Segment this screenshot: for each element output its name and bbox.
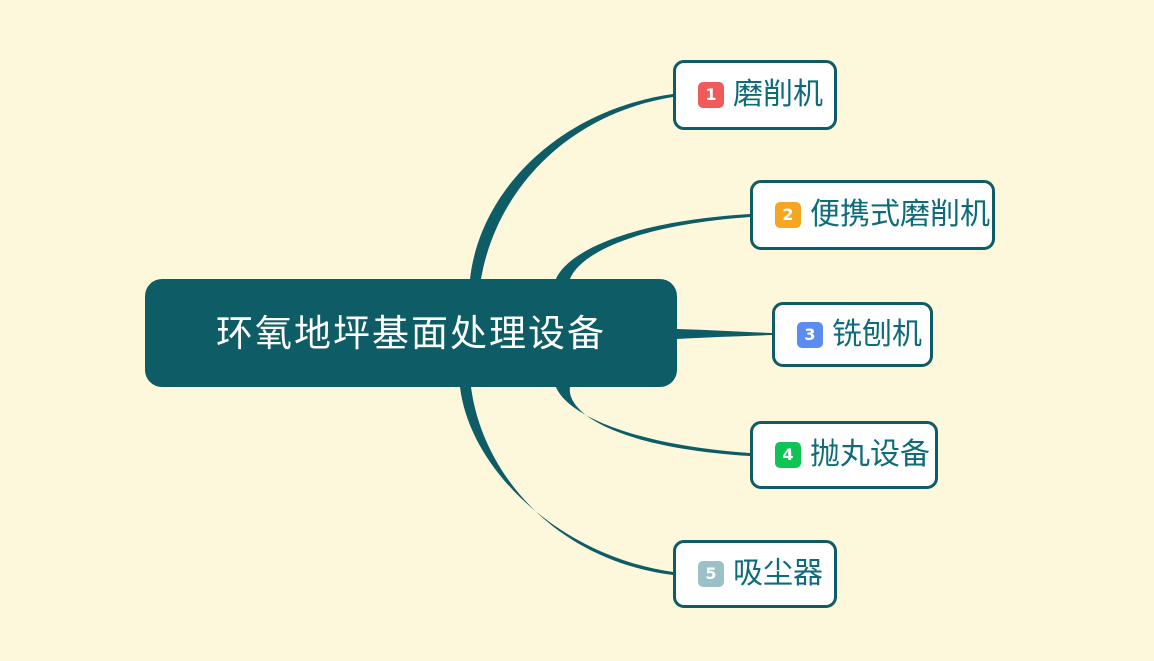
- connector-branch-3: [677, 329, 772, 339]
- branch-node-2[interactable]: 2 便携式磨削机: [750, 180, 995, 250]
- branch-node-5[interactable]: 5 吸尘器: [673, 540, 837, 608]
- connector-branch-2: [556, 214, 750, 279]
- root-node-label: 环氧地坪基面处理设备: [216, 315, 606, 352]
- mindmap-canvas: 环氧地坪基面处理设备 1 磨削机 2 便携式磨削机 3 铣刨机 4 抛丸设备 5…: [0, 0, 1154, 661]
- branch-label-3: 铣刨机: [832, 320, 922, 350]
- branch-badge-1: 1: [698, 82, 724, 108]
- connector-branch-4: [556, 387, 750, 456]
- branch-label-4: 抛丸设备: [810, 440, 930, 470]
- branch-label-2: 便携式磨削机: [810, 200, 990, 230]
- branch-badge-5: 5: [698, 561, 724, 587]
- branch-node-4[interactable]: 4 抛丸设备: [750, 421, 938, 489]
- root-node[interactable]: 环氧地坪基面处理设备: [145, 279, 677, 387]
- branch-badge-3: 3: [797, 322, 823, 348]
- branch-node-3[interactable]: 3 铣刨机: [772, 302, 933, 367]
- connector-branch-5: [460, 387, 673, 575]
- branch-label-1: 磨削机: [733, 80, 823, 110]
- branch-badge-4: 4: [775, 442, 801, 468]
- connector-branch-1: [470, 94, 673, 279]
- branch-label-5: 吸尘器: [733, 559, 823, 589]
- branch-node-1[interactable]: 1 磨削机: [673, 60, 837, 130]
- branch-badge-2: 2: [775, 202, 801, 228]
